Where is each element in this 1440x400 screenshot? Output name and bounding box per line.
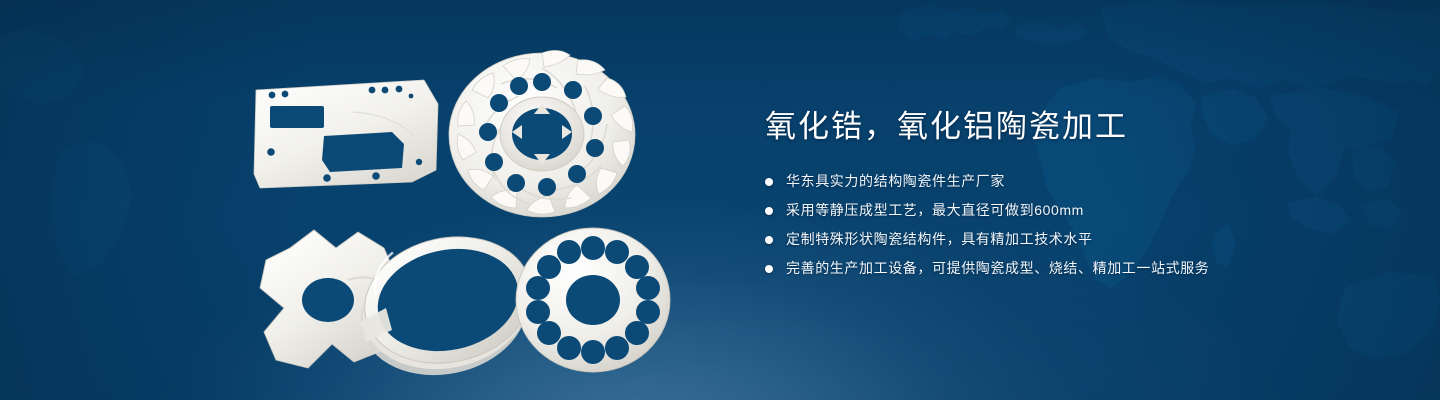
ceramic-products-image [240,40,690,380]
list-item: 采用等静压成型工艺，最大直径可做到600mm [765,200,1385,221]
bullet-dot-icon [765,207,773,215]
feature-list: 华东具实力的结构陶瓷件生产厂家 采用等静压成型工艺，最大直径可做到600mm 定… [765,171,1385,279]
ceramic-processing-banner: 氧化锆，氧化铝陶瓷加工 华东具实力的结构陶瓷件生产厂家 采用等静压成型工艺，最大… [0,0,1440,400]
list-item: 完善的生产加工设备，可提供陶瓷成型、烧结、精加工一站式服务 [765,258,1385,279]
banner-text-block: 氧化锆，氧化铝陶瓷加工 华东具实力的结构陶瓷件生产厂家 采用等静压成型工艺，最大… [765,108,1385,279]
list-item: 定制特殊形状陶瓷结构件，具有精加工技术水平 [765,229,1385,250]
ceramic-flat-plate [252,78,442,198]
list-item: 华东具实力的结构陶瓷件生产厂家 [765,171,1385,192]
bullet-dot-icon [765,178,773,186]
page-title: 氧化锆，氧化铝陶瓷加工 [765,108,1385,145]
ceramic-perforated-disc [512,225,674,375]
ceramic-impeller-disc [445,40,640,225]
list-item-label: 完善的生产加工设备，可提供陶瓷成型、烧结、精加工一站式服务 [786,258,1209,279]
list-item-label: 定制特殊形状陶瓷结构件，具有精加工技术水平 [786,229,1093,250]
bullet-dot-icon [765,236,773,244]
list-item-label: 采用等静压成型工艺，最大直径可做到600mm [786,200,1084,221]
list-item-label: 华东具实力的结构陶瓷件生产厂家 [786,171,1005,192]
bullet-dot-icon [765,265,773,273]
